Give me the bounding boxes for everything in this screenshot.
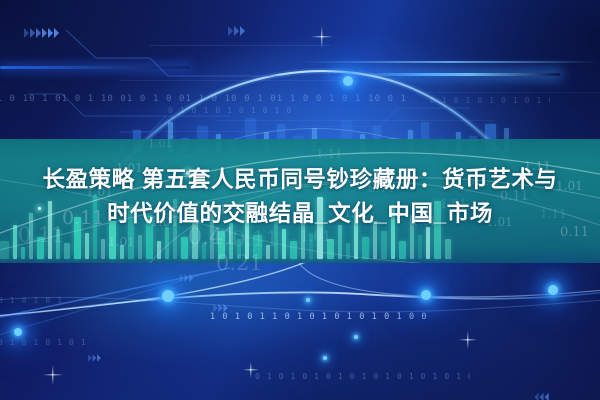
binary-ribbon: 0 1 0 1 0 1 0 1 0 1 0 1 0 1 0 1 0 1 0 1 … — [255, 372, 470, 381]
promo-banner: 01 0 10 1 01 0 1 10 01 0 1 0 01 1 0 10 0… — [0, 0, 600, 400]
binary-ribbon: 0 1 0 1 0 1 0 1 0 1 0 1 0 1 0 1 0 1 0 1 — [0, 338, 88, 347]
banner-title: 长盈策略 第五套人民币同号钞珍藏册：货币艺术与 时代价值的交融结晶_文化_中国_… — [0, 163, 600, 231]
binary-ribbon: 01 0 10 1 01 0 1 10 01 0 1 0 01 1 0 10 0… — [0, 94, 410, 104]
title-line-2: 时代价值的交融结晶_文化_中国_市场 — [0, 197, 600, 231]
binary-ribbon: 0 1 0 1 0 1 0 1 0 1 0 1 0 1 0 1 0 1 0 1 — [0, 296, 68, 305]
binary-ribbon: 0 1 0 1 0 1 0 1 0 1 0 1 0 1 0 1 0 1 0 1 — [168, 106, 298, 115]
bottom-wave-line-2 — [0, 297, 600, 312]
title-line-1: 长盈策略 第五套人民币同号钞珍藏册：货币艺术与 — [0, 163, 600, 197]
binary-ribbon: 1 0 1 0 1 1 0 1 0 1 0 1 0 1 0 1 0 0 1 0 … — [210, 312, 430, 322]
circuit-path — [300, 108, 470, 126]
binary-ribbon: 0 1 0 1 0 1 0 1 0 1 0 1 0 1 0 1 0 1 0 1 — [430, 96, 550, 105]
circuit-path — [66, 30, 290, 76]
diagonal-beam — [0, 268, 230, 318]
